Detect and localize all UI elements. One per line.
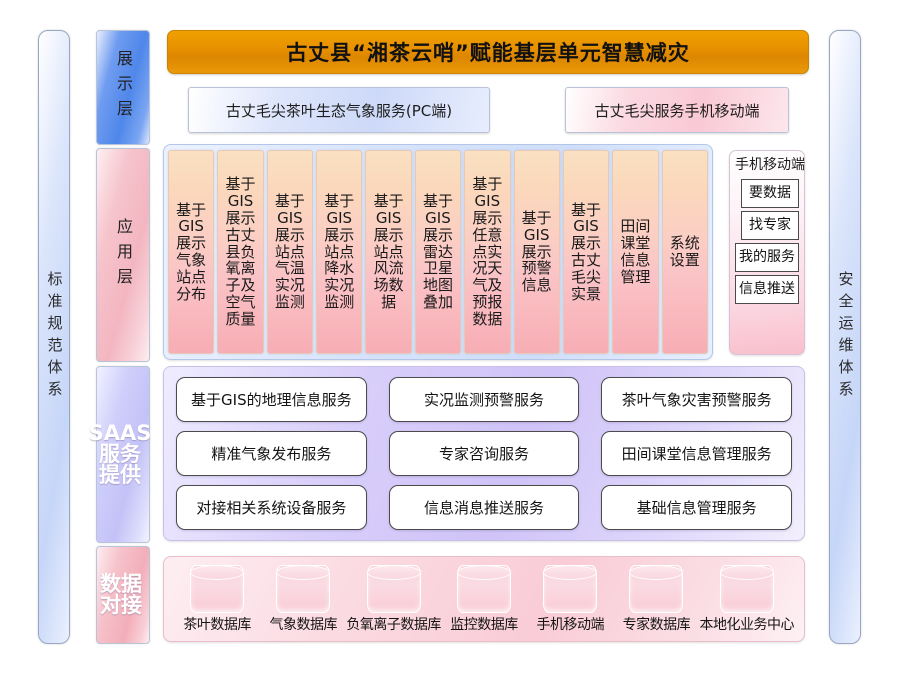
saas-service-5[interactable]: 专家咨询服务 [389, 431, 580, 476]
database-cylinder-icon [543, 565, 597, 613]
app-module-1-label: 基于GIS展示气象站点分布 [175, 202, 208, 303]
database-cylinder-icon [720, 565, 774, 613]
app-module-7[interactable]: 基于GIS展示任意点实况天气及预报数据 [464, 150, 510, 354]
layer-tag-data: 数据 对接 [96, 546, 150, 644]
database-item-2[interactable]: 气象数据库 [260, 565, 346, 634]
database-cylinder-icon [367, 565, 421, 613]
app-module-6-label: 基于GIS展示雷达卫星地图叠加 [421, 193, 454, 311]
mobile-menu-item-expert[interactable]: 找专家 [741, 211, 799, 240]
database-item-7[interactable]: 本地化业务中心 [700, 565, 795, 634]
app-module-5[interactable]: 基于GIS展示站点风流场数据 [365, 150, 411, 354]
database-item-5[interactable]: 手机移动端 [527, 565, 613, 634]
diagram-title-banner: 古丈县“湘茶云哨”赋能基层单元智慧减灾 [167, 30, 809, 74]
app-module-3[interactable]: 基于GIS展示站点气温实况监测 [267, 150, 313, 354]
page-title: 古丈县“湘茶云哨”赋能基层单元智慧减灾 [286, 37, 690, 67]
app-module-4-label: 基于GIS展示站点降水实况监测 [323, 193, 356, 311]
saas-service-2[interactable]: 实况监测预警服务 [389, 377, 580, 422]
saas-service-9[interactable]: 基础信息管理服务 [601, 485, 792, 530]
right-security-label: 安全运维体系 [838, 271, 853, 403]
app-module-2-label: 基于GIS展示古丈县负氧离子及空气质量 [224, 176, 257, 327]
database-item-1-label: 茶叶数据库 [183, 614, 251, 634]
layer-tag-application-label: 应用层 [115, 218, 131, 293]
database-cylinder-icon [457, 565, 511, 613]
mobile-menu-item-my-services[interactable]: 我的服务 [735, 243, 799, 272]
app-module-5-label: 基于GIS展示站点风流场数据 [372, 193, 405, 311]
database-item-5-label: 手机移动端 [536, 614, 604, 634]
presentation-box-mobile-label: 古丈毛尖服务手机移动端 [594, 100, 759, 121]
database-item-1[interactable]: 茶叶数据库 [174, 565, 260, 634]
mobile-menu-item-push[interactable]: 信息推送 [735, 275, 799, 304]
app-module-9-label: 基于GIS展示古丈毛尖实景 [570, 202, 603, 303]
layer-tag-data-line1: 数据 [100, 574, 142, 595]
mobile-app-panel-title: 手机移动端 [735, 156, 799, 176]
layer-tag-data-label: 数据 对接 [100, 574, 142, 616]
database-item-3[interactable]: 负氧离子数据库 [346, 565, 441, 634]
database-cylinder-icon [190, 565, 244, 613]
app-module-8-label: 基于GIS展示预警信息 [520, 210, 553, 294]
app-module-6[interactable]: 基于GIS展示雷达卫星地图叠加 [415, 150, 461, 354]
architecture-diagram: 标准规范体系 安全运维体系 展示层 应用层 SAAS 服务 提供 数据 对接 古… [0, 0, 900, 681]
saas-service-6[interactable]: 田间课堂信息管理服务 [601, 431, 792, 476]
app-module-9[interactable]: 基于GIS展示古丈毛尖实景 [563, 150, 609, 354]
layer-tag-saas-label: SAAS 服务 提供 [89, 423, 152, 486]
app-module-11[interactable]: 系统设置 [662, 150, 708, 354]
app-module-4[interactable]: 基于GIS展示站点降水实况监测 [316, 150, 362, 354]
database-cylinder-icon [276, 565, 330, 613]
app-module-2[interactable]: 基于GIS展示古丈县负氧离子及空气质量 [217, 150, 263, 354]
app-module-10[interactable]: 田间课堂信息管理 [612, 150, 658, 354]
app-module-8[interactable]: 基于GIS展示预警信息 [514, 150, 560, 354]
layer-tag-display-label: 展示层 [115, 50, 131, 125]
app-module-3-label: 基于GIS展示站点气温实况监测 [273, 193, 306, 311]
database-item-4-label: 监控数据库 [450, 614, 518, 634]
database-item-4[interactable]: 监控数据库 [441, 565, 527, 634]
right-security-frame: 安全运维体系 [829, 30, 861, 644]
saas-service-4[interactable]: 精准气象发布服务 [176, 431, 367, 476]
database-cylinder-icon [629, 565, 683, 613]
saas-service-1[interactable]: 基于GIS的地理信息服务 [176, 377, 367, 422]
mobile-menu-item-data[interactable]: 要数据 [741, 179, 799, 208]
mobile-app-panel: 手机移动端 要数据 找专家 我的服务 信息推送 [729, 150, 805, 355]
layer-tag-saas-line1: SAAS [89, 423, 152, 444]
database-item-3-label: 负氧离子数据库 [346, 614, 441, 634]
database-item-6-label: 专家数据库 [623, 614, 691, 634]
layer-tag-saas-line2: 服务 [89, 444, 152, 465]
app-module-11-label: 系统设置 [668, 235, 701, 269]
layer-tag-display: 展示层 [96, 30, 150, 145]
saas-service-8[interactable]: 信息消息推送服务 [389, 485, 580, 530]
layer-tag-data-line2: 对接 [100, 595, 142, 616]
data-layer-container: 茶叶数据库 气象数据库 负氧离子数据库 监控数据库 手机移动端 专家数据库 本地… [163, 556, 805, 642]
app-module-1[interactable]: 基于GIS展示气象站点分布 [168, 150, 214, 354]
presentation-box-pc[interactable]: 古丈毛尖茶叶生态气象服务(PC端) [188, 87, 490, 133]
left-standards-frame: 标准规范体系 [38, 30, 70, 644]
saas-service-3[interactable]: 茶叶气象灾害预警服务 [601, 377, 792, 422]
layer-tag-saas: SAAS 服务 提供 [96, 366, 150, 543]
layer-tag-saas-line3: 提供 [89, 465, 152, 486]
layer-tag-application: 应用层 [96, 148, 150, 362]
database-item-7-label: 本地化业务中心 [700, 614, 795, 634]
database-item-6[interactable]: 专家数据库 [613, 565, 699, 634]
database-item-2-label: 气象数据库 [270, 614, 338, 634]
presentation-box-pc-label: 古丈毛尖茶叶生态气象服务(PC端) [226, 100, 452, 121]
app-module-7-label: 基于GIS展示任意点实况天气及预报数据 [471, 176, 504, 327]
left-standards-label: 标准规范体系 [47, 271, 62, 403]
application-layer-container: 基于GIS展示气象站点分布 基于GIS展示古丈县负氧离子及空气质量 基于GIS展… [163, 144, 713, 360]
presentation-box-mobile[interactable]: 古丈毛尖服务手机移动端 [565, 87, 789, 133]
saas-layer-container: 基于GIS的地理信息服务 实况监测预警服务 茶叶气象灾害预警服务 精准气象发布服… [163, 366, 805, 541]
saas-service-7[interactable]: 对接相关系统设备服务 [176, 485, 367, 530]
app-module-10-label: 田间课堂信息管理 [619, 218, 652, 285]
